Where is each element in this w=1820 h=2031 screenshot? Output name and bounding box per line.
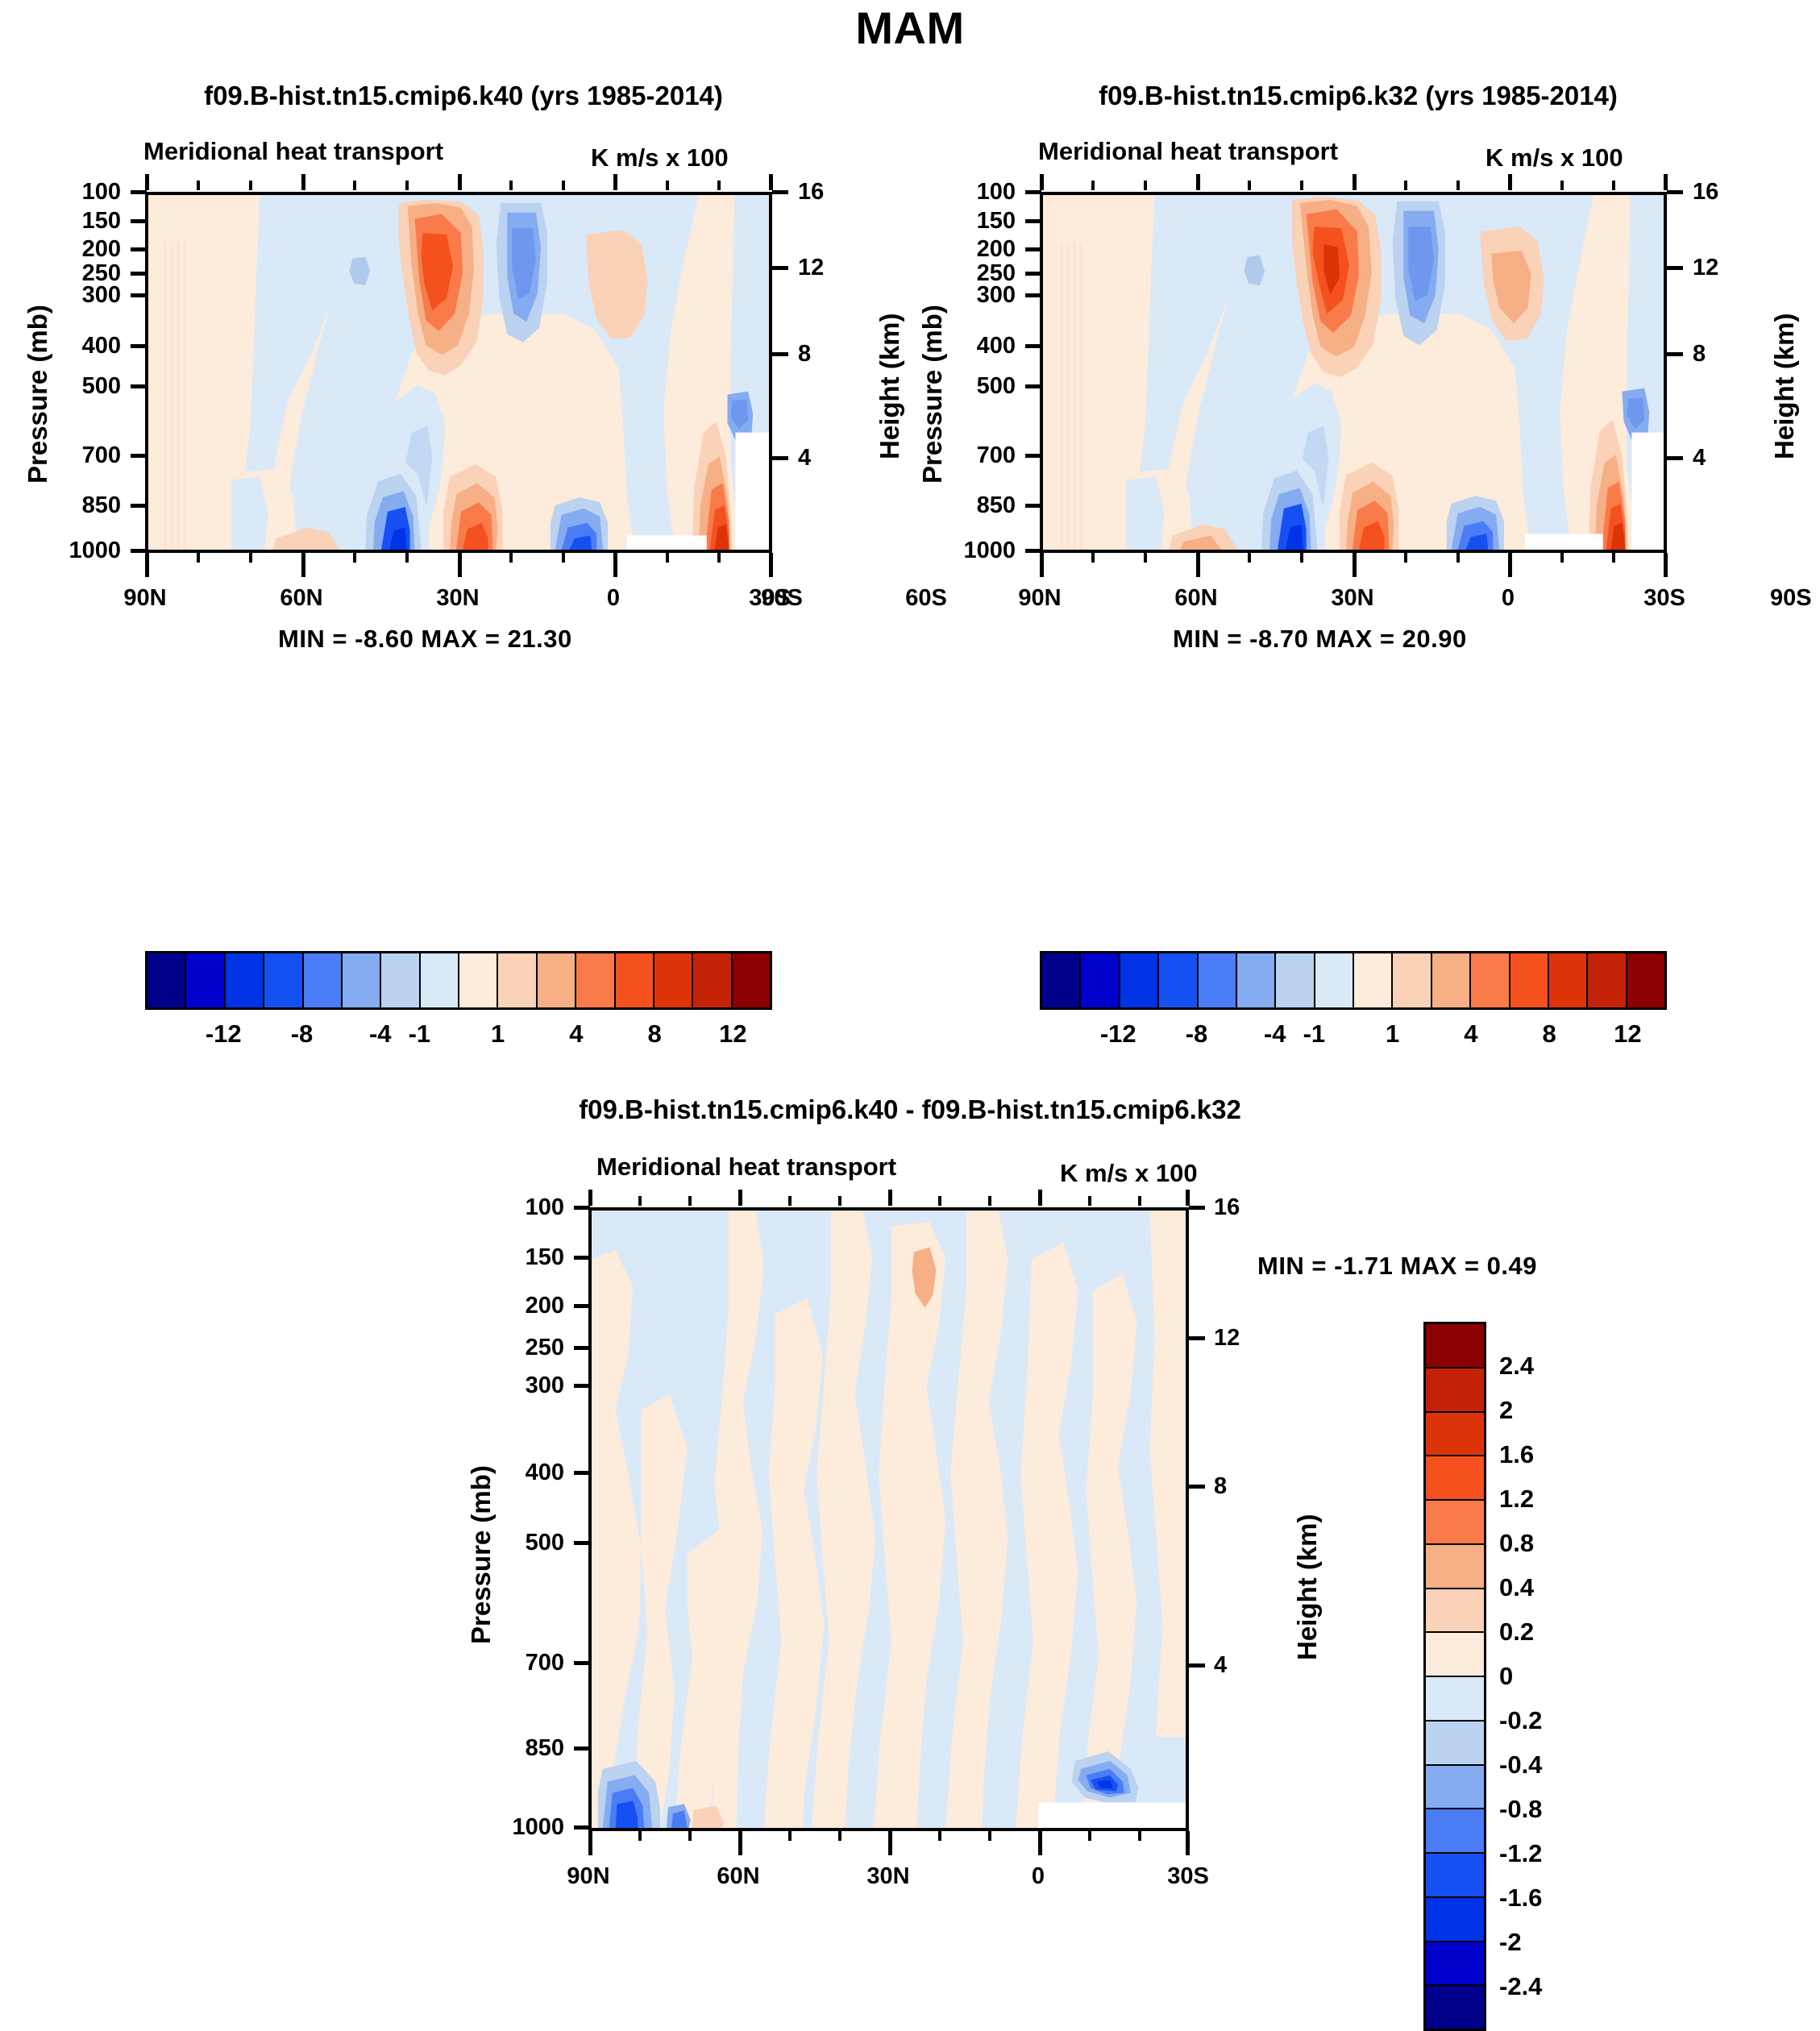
y-tick-label-150-diff: 150 [476, 1244, 564, 1271]
colorbar-diff [1423, 1322, 1486, 2031]
y2-axis-title-diff: Height (km) [1292, 1514, 1323, 1661]
colorbar-tick-label: -8 [1186, 1020, 1208, 1049]
panel-title-diff: f09.B-hist.tn15.cmip6.k40 - f09.B-hist.t… [426, 1094, 1394, 1125]
colorbar-cell [1627, 953, 1664, 1007]
colorbar-tick-label: 0 [1499, 1662, 1513, 1691]
x-tick-label-60N-diff: 60N [710, 1863, 767, 1890]
colorbar-cell [576, 953, 615, 1007]
colorbar-cell [1393, 953, 1431, 1007]
colorbar-cell [1432, 953, 1471, 1007]
colorbar-cell [1426, 1722, 1484, 1766]
colorbar-tick-label: 1.2 [1499, 1485, 1534, 1514]
colorbar-k32 [1040, 951, 1667, 1010]
colorbar-tick-label: 0.8 [1499, 1529, 1534, 1558]
colorbar-labels-diff: 2.421.61.20.80.40.20-0.2-0.4-0.8-1.2-1.6… [1499, 1322, 1620, 2031]
y-tick-label-850-k32: 850 [927, 492, 1016, 519]
x-tick-label-0-k40: 0 [585, 585, 642, 612]
colorbar-cell [421, 953, 459, 1007]
colorbar-cell [1276, 953, 1315, 1007]
colorbar-cell [226, 953, 264, 1007]
colorbar-cell [1426, 1986, 1484, 2029]
colorbar-cell [1588, 953, 1627, 1007]
x-tick-label-90S-k32: 90S [1770, 585, 1820, 612]
x-tick-label-90S-k40: 90S [754, 585, 810, 612]
y2-tick-label-4-k32: 4 [1693, 445, 1706, 471]
minmax-k40: MIN = -8.60 MAX = 21.30 [278, 625, 572, 654]
y2-tick-label-16-diff: 16 [1214, 1194, 1240, 1221]
colorbar-cell [1426, 1898, 1484, 1942]
colorbar-cell [381, 953, 420, 1007]
colorbar-cell [616, 953, 654, 1007]
y-tick-label-1000: 1000 [24, 538, 121, 564]
colorbar-cell [1354, 953, 1393, 1007]
colorbar-cell [264, 953, 303, 1007]
colorbar-cell [498, 953, 537, 1007]
colorbar-cell [186, 953, 225, 1007]
colorbar-cell [1471, 953, 1510, 1007]
colorbar-tick-label: 4 [1464, 1020, 1477, 1049]
colorbar-cell [459, 953, 498, 1007]
colorbar-cell [1426, 1809, 1484, 1854]
y-tick-label-100-k32: 100 [927, 179, 1016, 206]
x-tick-label-30N-k40: 30N [430, 585, 486, 612]
contour-field-k40 [148, 195, 769, 550]
colorbar-cell [654, 953, 693, 1007]
y-tick-label-150: 150 [32, 208, 121, 235]
y2-tick-label-12-k32: 12 [1693, 255, 1718, 281]
plot-area-diff [588, 1207, 1189, 1831]
panel-title-k32: f09.B-hist.tn15.cmip6.k32 (yrs 1985-2014… [935, 81, 1781, 111]
colorbar-tick-label: -1 [1303, 1020, 1326, 1049]
panel-variable-label-k40: Meridional heat transport [143, 137, 443, 166]
figure-season-title: MAM [0, 2, 1820, 54]
colorbar-tick-label: 2.4 [1499, 1352, 1534, 1381]
colorbar-cell [1426, 1324, 1484, 1369]
panel-units-label-k40: K m/s x 100 [591, 143, 729, 172]
colorbar-tick-label: 0.4 [1499, 1573, 1534, 1602]
colorbar-cell [343, 953, 381, 1007]
colorbar-k40 [145, 951, 772, 1010]
colorbar-tick-label: -12 [1100, 1020, 1136, 1049]
y-tick-label-100-diff: 100 [476, 1194, 564, 1221]
colorbar-tick-label: -1.6 [1499, 1884, 1542, 1913]
colorbar-tick-label: -1.2 [1499, 1839, 1542, 1868]
colorbar-cell [1426, 1766, 1484, 1810]
y-tick-label-1000-k32: 1000 [919, 538, 1016, 564]
colorbar-tick-label: -8 [291, 1020, 314, 1049]
x-tick-label-30S-k32: 30S [1636, 585, 1693, 612]
colorbar-cell [1120, 953, 1159, 1007]
colorbar-tick-label: -0.8 [1499, 1795, 1542, 1824]
colorbar-tick-label: 12 [719, 1020, 746, 1049]
x-tick-label-0-k32: 0 [1480, 585, 1536, 612]
x-tick-label-90N-k40: 90N [117, 585, 173, 612]
y2-tick-label-12: 12 [798, 255, 824, 281]
minmax-k32: MIN = -8.70 MAX = 20.90 [1173, 625, 1467, 654]
x-tick-label-30S-diff: 30S [1160, 1863, 1216, 1890]
y-tick-label-200: 200 [32, 236, 121, 263]
x-tick-label-30N-diff: 30N [860, 1863, 916, 1890]
colorbar-cell [1426, 1501, 1484, 1545]
colorbar-tick-label: -12 [206, 1020, 242, 1049]
colorbar-cell [538, 953, 576, 1007]
colorbar-tick-label: -4 [369, 1020, 392, 1049]
colorbar-cell [1426, 1854, 1484, 1898]
y2-tick-label-12-diff: 12 [1214, 1325, 1240, 1352]
colorbar-tick-label: -2 [1499, 1928, 1522, 1957]
colorbar-cell [1081, 953, 1120, 1007]
colorbar-cell [1199, 953, 1237, 1007]
y2-tick-label-8-k32: 8 [1693, 341, 1706, 368]
panel-title-k40: f09.B-hist.tn15.cmip6.k40 (yrs 1985-2014… [40, 81, 887, 111]
y-axis-title-diff: Pressure (mb) [466, 1465, 497, 1644]
y2-tick-label-8-diff: 8 [1214, 1473, 1227, 1500]
colorbar-cell [148, 953, 186, 1007]
colorbar-tick-label: -2.4 [1499, 1972, 1542, 2001]
y2-axis-title-k32: Height (km) [1769, 314, 1800, 460]
y-tick-label-850-diff: 850 [476, 1735, 564, 1762]
colorbar-labels-k32: -12-8-4-114812 [1040, 1020, 1667, 1052]
colorbar-cell [1426, 1633, 1484, 1677]
minmax-diff: MIN = -1.71 MAX = 0.49 [1257, 1252, 1537, 1281]
x-tick-label-90N-k32: 90N [1012, 585, 1068, 612]
plot-area-k32 [1040, 192, 1667, 553]
y-tick-label-300-diff: 300 [476, 1373, 564, 1399]
x-tick-label-0-diff: 0 [1010, 1863, 1066, 1890]
y2-tick-label-16-k32: 16 [1693, 179, 1718, 206]
colorbar-tick-label: 8 [648, 1020, 662, 1049]
colorbar-cell [1426, 1677, 1484, 1722]
colorbar-cell [1042, 953, 1081, 1007]
colorbar-tick-label: 4 [569, 1020, 583, 1049]
colorbar-cell [733, 953, 770, 1007]
colorbar-cell [1315, 953, 1354, 1007]
y2-tick-label-16: 16 [798, 179, 824, 206]
colorbar-cell [693, 953, 732, 1007]
colorbar-tick-label: -1 [409, 1020, 431, 1049]
panel-units-label-diff: K m/s x 100 [1060, 1159, 1198, 1188]
colorbar-tick-label: 1.6 [1499, 1440, 1534, 1469]
y-tick-label-150-k32: 150 [927, 208, 1016, 235]
y-tick-label-850: 850 [32, 492, 121, 519]
y2-tick-label-8: 8 [798, 341, 811, 368]
colorbar-tick-label: 8 [1543, 1020, 1556, 1049]
colorbar-tick-label: 1 [491, 1020, 505, 1049]
y-tick-label-700-diff: 700 [476, 1650, 564, 1676]
colorbar-cell [1426, 1942, 1484, 1987]
y-tick-label-250-diff: 250 [476, 1335, 564, 1361]
y-tick-label-1000-diff: 1000 [467, 1814, 564, 1841]
colorbar-tick-label: 1 [1386, 1020, 1399, 1049]
colorbar-cell [1549, 953, 1588, 1007]
colorbar-cell [1237, 953, 1276, 1007]
panel-variable-label-k32: Meridional heat transport [1038, 137, 1338, 166]
y-tick-label-200-k32: 200 [927, 236, 1016, 263]
y2-tick-label-4: 4 [798, 445, 811, 471]
colorbar-tick-label: 12 [1614, 1020, 1641, 1049]
colorbar-cell [1426, 1589, 1484, 1634]
y-tick-label-200-diff: 200 [476, 1293, 564, 1319]
colorbar-tick-label: 2 [1499, 1396, 1513, 1425]
colorbar-cell [1159, 953, 1198, 1007]
panel-variable-label-diff: Meridional heat transport [596, 1153, 896, 1182]
colorbar-tick-label: -4 [1264, 1020, 1286, 1049]
contour-field-diff [592, 1211, 1186, 1828]
colorbar-cell [304, 953, 343, 1007]
colorbar-tick-label: -0.4 [1499, 1751, 1542, 1780]
colorbar-cell [1426, 1413, 1484, 1457]
y-tick-label-100: 100 [32, 179, 121, 206]
colorbar-cell [1426, 1369, 1484, 1413]
y-axis-title-k32: Pressure (mb) [917, 305, 948, 484]
y-axis-title-k40: Pressure (mb) [23, 305, 53, 484]
x-tick-label-60S-k40: 60S [898, 585, 954, 612]
colorbar-cell [1426, 1456, 1484, 1501]
contour-field-k32 [1043, 195, 1664, 550]
colorbar-tick-label: -0.2 [1499, 1706, 1542, 1735]
y2-tick-label-4-diff: 4 [1214, 1652, 1227, 1679]
y2-axis-title-k40: Height (km) [875, 314, 905, 460]
colorbar-labels-k40: -12-8-4-114812 [145, 1020, 772, 1052]
panel-units-label-k32: K m/s x 100 [1486, 143, 1623, 172]
x-tick-label-60N-k40: 60N [273, 585, 330, 612]
x-tick-label-30N-k32: 30N [1324, 585, 1381, 612]
colorbar-cell [1426, 1545, 1484, 1589]
x-tick-label-60N-k32: 60N [1168, 585, 1224, 612]
x-tick-label-90N-diff: 90N [560, 1863, 617, 1890]
colorbar-tick-label: 0.2 [1499, 1618, 1534, 1647]
plot-area-k40 [145, 192, 772, 553]
colorbar-cell [1510, 953, 1549, 1007]
